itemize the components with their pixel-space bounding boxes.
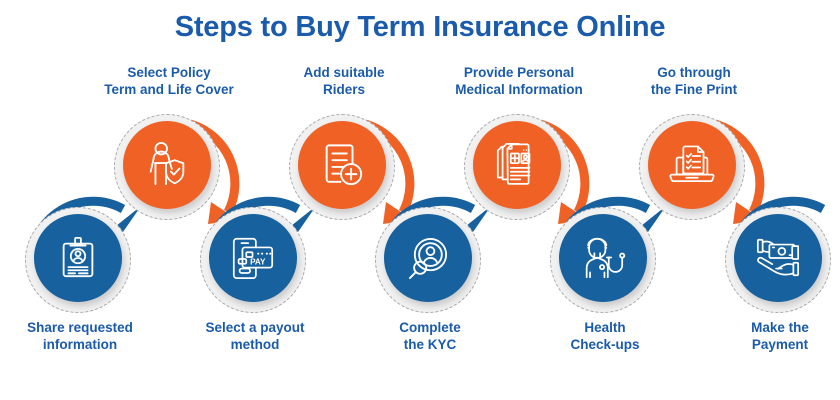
- mobile-pay-icon: PAY: [229, 234, 277, 282]
- step-5-caption: Complete the KYC: [330, 319, 530, 354]
- step-3-caption: Select a payout method: [155, 319, 355, 354]
- id-card-icon: [55, 235, 101, 281]
- step-1-label-line2: information: [0, 336, 180, 353]
- step-8-caption: Go through the Fine Print: [594, 64, 794, 99]
- step-disc[interactable]: PAY: [209, 214, 297, 302]
- step-disc[interactable]: [123, 121, 211, 209]
- step-disc[interactable]: [384, 214, 472, 302]
- step-1-label-line1: Share requested: [0, 319, 180, 336]
- step-3-label-line1: Select a payout: [155, 319, 355, 336]
- step-2-label-line1: Select Policy: [69, 64, 269, 81]
- step-9-label-line2: Payment: [680, 336, 840, 353]
- step-9-caption: Make the Payment: [680, 319, 840, 354]
- step-8-label-line2: the Fine Print: [594, 81, 794, 98]
- step-4-label-line1: Add suitable: [244, 64, 444, 81]
- medical-records-icon: [493, 141, 541, 189]
- step-5-label-line2: the KYC: [330, 336, 530, 353]
- step-7-label-line1: Health: [505, 319, 705, 336]
- step-2-label-line2: Term and Life Cover: [69, 81, 269, 98]
- step-disc[interactable]: [648, 121, 736, 209]
- laptop-checklist-icon: [667, 140, 717, 190]
- step-7-label-line2: Check-ups: [505, 336, 705, 353]
- step-4-label-line2: Riders: [244, 81, 444, 98]
- magnifier-person-icon: [405, 235, 452, 282]
- step-8-label-line1: Go through: [594, 64, 794, 81]
- step-3-label-line2: method: [155, 336, 355, 353]
- step-5-label-line1: Complete: [330, 319, 530, 336]
- person-shield-icon: [142, 140, 192, 190]
- step-disc[interactable]: [559, 214, 647, 302]
- step-6-label-line1: Provide Personal: [419, 64, 619, 81]
- step-disc[interactable]: [734, 214, 822, 302]
- step-2-caption: Select Policy Term and Life Cover: [69, 64, 269, 99]
- pay-card-text: PAY: [250, 258, 266, 267]
- step-1-caption: Share requested information: [0, 319, 180, 354]
- page-title: Steps to Buy Term Insurance Online: [0, 12, 840, 44]
- hands-cash-icon: [754, 234, 802, 282]
- step-6-caption: Provide Personal Medical Information: [419, 64, 619, 99]
- step-9-label-line1: Make the: [680, 319, 840, 336]
- step-4-caption: Add suitable Riders: [244, 64, 444, 99]
- doctor-stethoscope-icon: [579, 234, 627, 282]
- infographic-canvas: Steps to Buy Term Insurance Online: [0, 0, 840, 400]
- step-disc[interactable]: [34, 214, 122, 302]
- step-7-caption: Health Check-ups: [505, 319, 705, 354]
- step-6-label-line2: Medical Information: [419, 81, 619, 98]
- document-plus-icon: [319, 142, 365, 188]
- step-disc[interactable]: [298, 121, 386, 209]
- step-disc[interactable]: [473, 121, 561, 209]
